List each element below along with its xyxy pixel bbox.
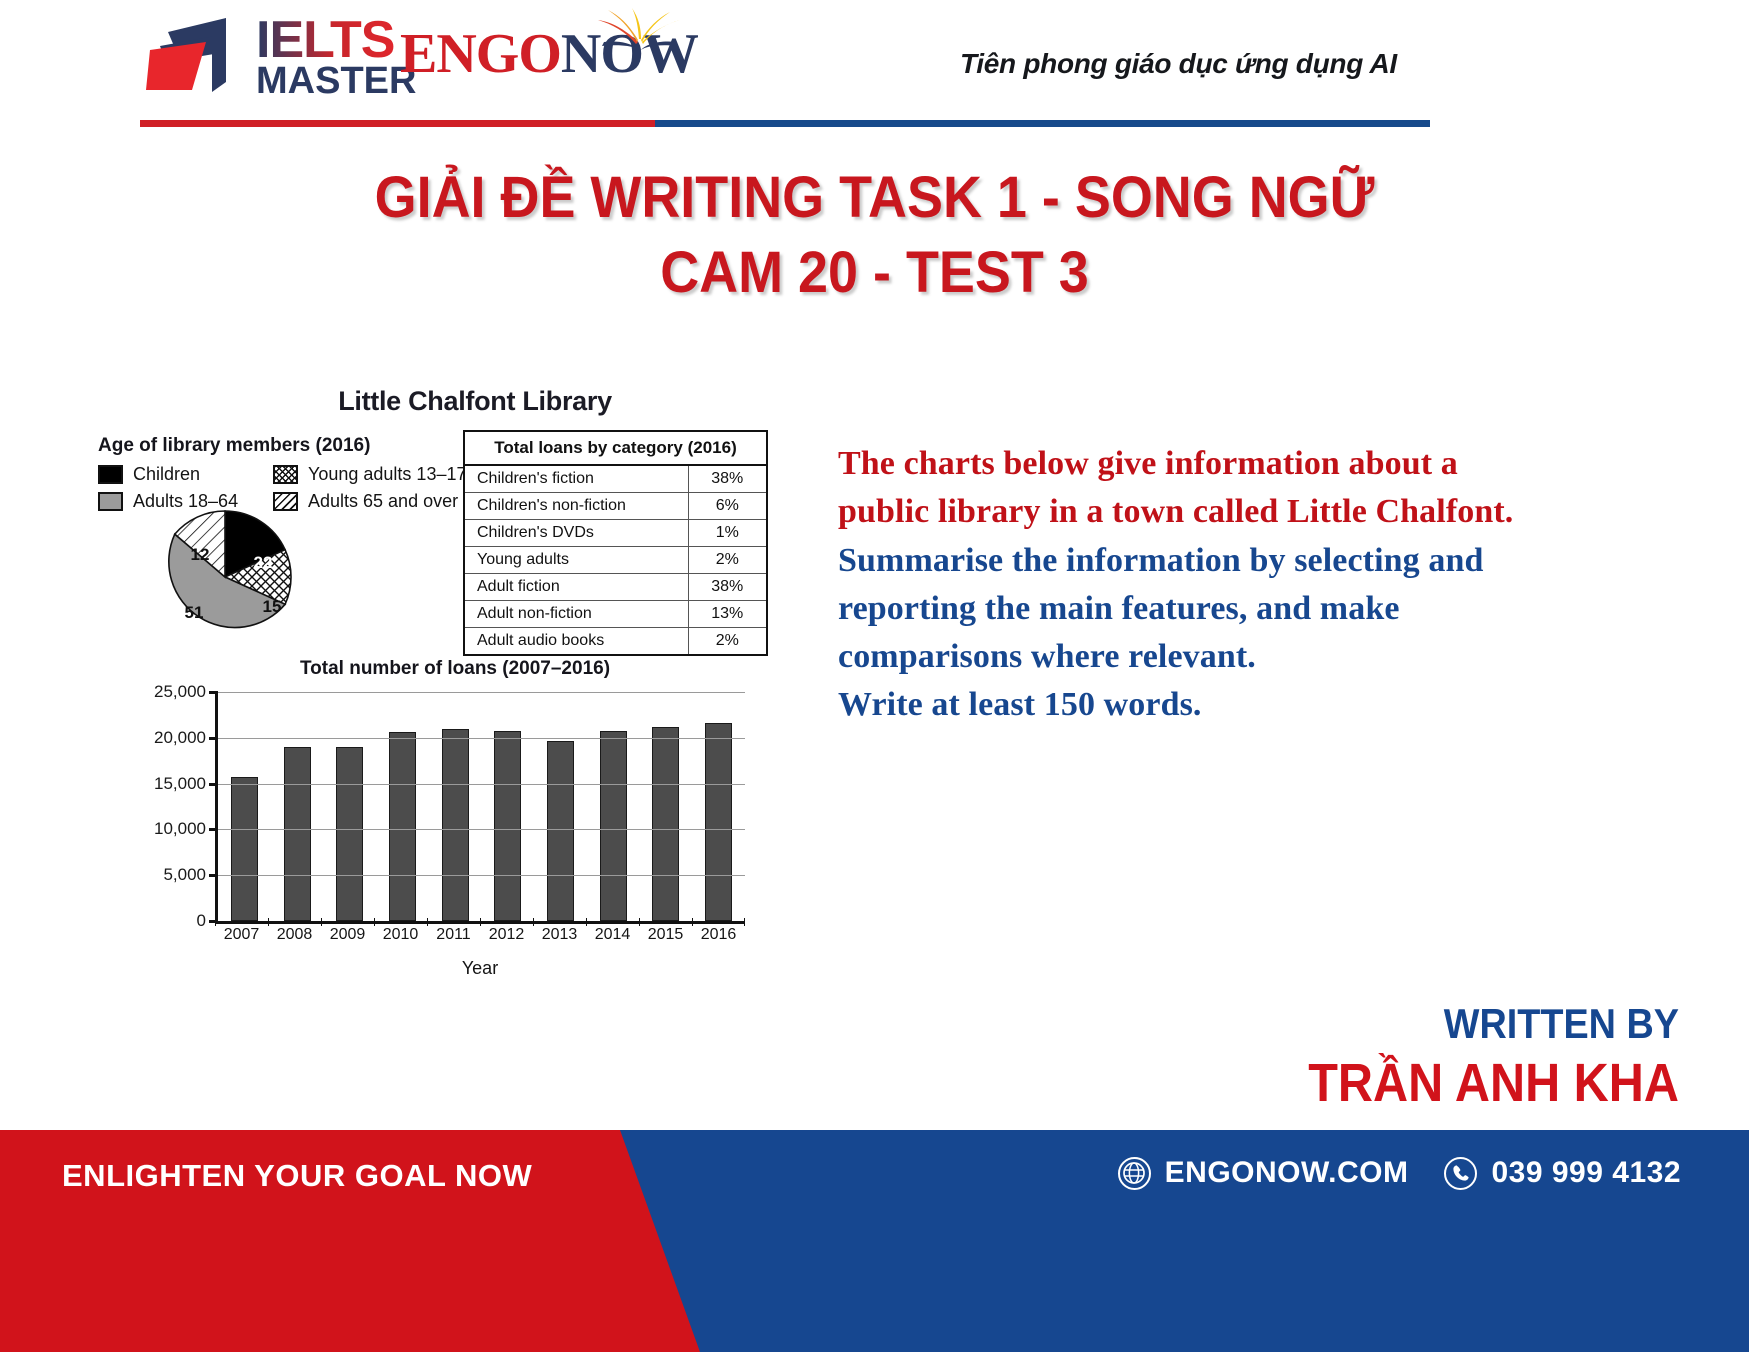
loan-category: Adult fiction [465,574,688,601]
figure-panel: Little Chalfont Library Age of library m… [85,378,785,998]
pie-value-seniors: 12 [191,545,210,564]
pie-chart-heading: Age of library members (2016) [98,435,370,457]
legend-item-children: Children [98,464,273,485]
bar-chart-gridline [218,921,745,922]
bar [600,731,627,921]
bar [547,741,574,921]
loan-pct: 38% [688,574,766,601]
legend-item-adults: Adults 18–64 [98,491,273,512]
pie-value-children: 22 [254,553,273,572]
header-rule-red [140,120,655,127]
bar [705,723,732,921]
loan-category: Children's fiction [465,465,688,493]
engonow-logo: ENGONOW [400,22,670,102]
bar-chart-gridline [218,738,745,739]
loans-table: Total loans by category (2016) Children'… [463,430,768,656]
logo-engo-text: ENGO [400,23,561,85]
bar-chart-x-tick-label: 2016 [692,926,745,944]
author-credit: WRITTEN BY TRẦN ANH KHA [1267,1000,1679,1114]
open-book-rays-icon [596,8,682,60]
bar-cell [534,692,587,921]
globe-icon [1118,1157,1151,1190]
bar-chart-x-tick-label: 2013 [533,926,586,944]
loan-pct: 1% [688,520,766,547]
bar-chart-x-axis-title: Year [215,958,745,979]
legend-swatch-diagonal-icon [273,492,298,511]
legend-label: Young adults 13–17 [308,464,466,485]
logo-ielts-text: IELTS [256,17,416,65]
legend-swatch-gray-icon [98,492,123,511]
bar-chart-gridline [218,875,745,876]
pie-value-adults: 51 [185,603,204,622]
footer-phone-chip[interactable]: 039 999 4132 [1444,1156,1681,1190]
task-prompt: The charts below give information about … [838,440,1538,730]
bar-chart-y-tick-mark [209,737,218,740]
bar-cell [692,692,745,921]
logo-master-text: MASTER [256,64,416,99]
bar-cell [482,692,535,921]
page-title: GIẢI ĐỀ WRITING TASK 1 - SONG NGỮ CAM 20… [0,160,1749,311]
loan-category: Adult audio books [465,628,688,655]
bar [231,777,258,921]
table-row: Young adults 2% [465,547,766,574]
bar-chart-y-tick-mark [209,783,218,786]
stacked-books-icon [140,12,250,104]
bar-chart-title: Total number of loans (2007–2016) [245,658,665,680]
bar-cell [323,692,376,921]
loan-pct: 13% [688,601,766,628]
bar-cell [640,692,693,921]
page-header: IELTS MASTER ENGONOW Tiên phong giáo dục… [0,0,1749,140]
table-row: Children's fiction 38% [465,465,766,493]
bar-chart-plot-area: 05,00010,00015,00020,00025,000 [215,692,745,924]
table-row: Adult non-fiction 13% [465,601,766,628]
loan-pct: 38% [688,465,766,493]
bar-chart-x-tick-label: 2009 [321,926,374,944]
legend-label: Children [133,464,200,485]
header-rule-blue [655,120,1430,127]
bar-cell [376,692,429,921]
bar-cell [429,692,482,921]
bar-cell [271,692,324,921]
tagline: Tiên phong giáo dục ứng dụng AI [960,48,1480,80]
table-row: Adult fiction 38% [465,574,766,601]
bar-chart-x-tick-label: 2011 [427,926,480,944]
prompt-word-count: Write at least 150 words. [838,681,1538,729]
footer-slogan: ENLIGHTEN YOUR GOAL NOW [62,1158,532,1194]
bar-chart-x-tick-label: 2015 [639,926,692,944]
loan-category: Adult non-fiction [465,601,688,628]
bar-chart-gridline [218,829,745,830]
bar-chart-x-tick-label: 2008 [268,926,321,944]
bar [389,732,416,921]
bar-chart-x-tick-label: 2007 [215,926,268,944]
prompt-blue-paragraph: Summarise the information by selecting a… [838,537,1538,682]
footer-website-text: ENGONOW.COM [1165,1156,1409,1190]
bar [494,731,521,921]
loan-pct: 2% [688,547,766,574]
footer-contacts: ENGONOW.COM 039 999 4132 [1118,1156,1681,1190]
bar-chart-x-labels: 2007200820092010201120122013201420152016 [215,926,745,944]
bar-chart-x-tick-label: 2010 [374,926,427,944]
figure-title: Little Chalfont Library [265,386,685,417]
footer-phone-text: 039 999 4132 [1491,1156,1681,1190]
bar [442,729,469,921]
bar-chart-x-tick-label: 2012 [480,926,533,944]
loan-pct: 2% [688,628,766,655]
pie-chart: 22 15 51 12 [130,510,320,645]
bar-chart-y-tick-mark [209,691,218,694]
title-line-2: CAM 20 - TEST 3 [61,235,1688,310]
table-row: Children's DVDs 1% [465,520,766,547]
legend-swatch-crosshatch-icon [273,465,298,484]
loans-table-header: Total loans by category (2016) [465,432,766,465]
written-by-label: WRITTEN BY [1308,1000,1679,1048]
legend-swatch-black-icon [98,465,123,484]
bar-chart-y-tick-mark [209,874,218,877]
bar-chart: Total number of loans (2007–2016) 05,000… [95,658,775,988]
bar-chart-y-tick-mark [209,828,218,831]
phone-icon [1444,1157,1477,1190]
bar-chart-x-tick-label: 2014 [586,926,639,944]
bar [336,747,363,921]
loan-category: Young adults [465,547,688,574]
bar [652,727,679,921]
page-footer: ENLIGHTEN YOUR GOAL NOW ENGONOW.COM 039 … [0,1130,1749,1352]
prompt-red-paragraph: The charts below give information about … [838,440,1538,537]
bar-chart-y-tick-mark [209,920,218,923]
legend-item-seniors: Adults 65 and over [273,491,458,512]
legend-label: Adults 18–64 [133,491,238,512]
bar-cell [587,692,640,921]
pie-value-young-adults: 15 [263,597,282,616]
bar [284,747,311,921]
loan-category: Children's non-fiction [465,493,688,520]
loan-category: Children's DVDs [465,520,688,547]
bar-chart-gridline [218,784,745,785]
bar-chart-gridline [218,692,745,693]
legend-label: Adults 65 and over [308,491,458,512]
author-name: TRẦN ANH KHA [1308,1052,1679,1114]
bar-series [218,692,745,921]
table-row: Children's non-fiction 6% [465,493,766,520]
footer-website-chip[interactable]: ENGONOW.COM [1118,1156,1409,1190]
title-line-1: GIẢI ĐỀ WRITING TASK 1 - SONG NGỮ [61,160,1688,235]
ielts-master-logo: IELTS MASTER [140,12,416,104]
table-row: Adult audio books 2% [465,628,766,655]
loan-pct: 6% [688,493,766,520]
bar-cell [218,692,271,921]
legend-item-young-adults: Young adults 13–17 [273,464,466,485]
